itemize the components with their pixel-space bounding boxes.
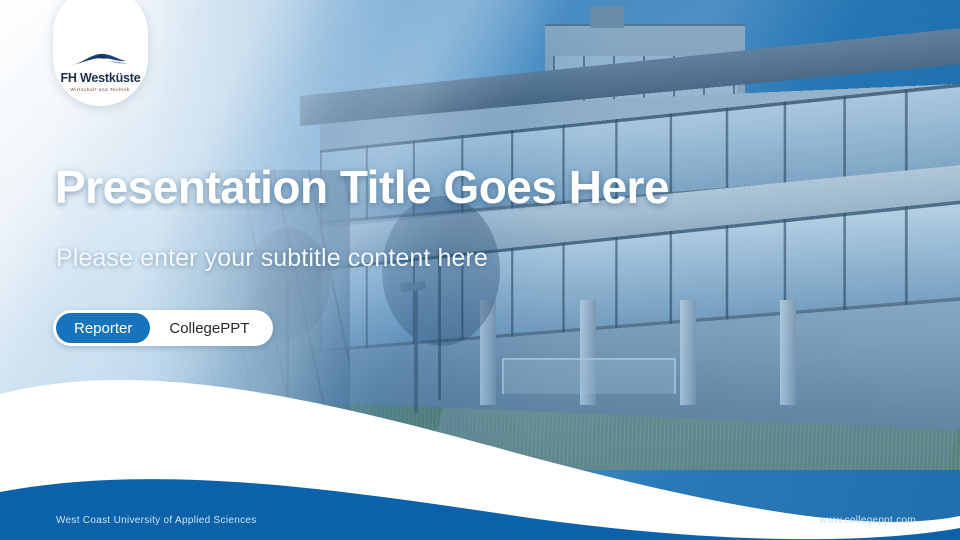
logo-name: FH Westküste <box>60 71 140 85</box>
page-subtitle: Please enter your subtitle content here <box>56 244 488 273</box>
reporter-field[interactable]: Reporter CollegePPT <box>53 310 273 346</box>
bottom-wave-decoration <box>0 350 960 540</box>
presentation-title-slide: FH Westküste Wirtschaft und Technik Pres… <box>0 0 960 540</box>
footer-institution: West Coast University of Applied Science… <box>56 515 257 526</box>
university-logo-badge: FH Westküste Wirtschaft und Technik <box>53 0 148 106</box>
fh-westkueste-wave-mark <box>70 50 132 70</box>
reporter-value[interactable]: CollegePPT <box>153 320 271 337</box>
page-title: Presentation Title Goes Here <box>55 160 835 214</box>
footer-website[interactable]: www.collegeppt.com <box>819 515 916 526</box>
reporter-label: Reporter <box>56 313 150 343</box>
logo-tagline: Wirtschaft und Technik <box>71 87 130 92</box>
